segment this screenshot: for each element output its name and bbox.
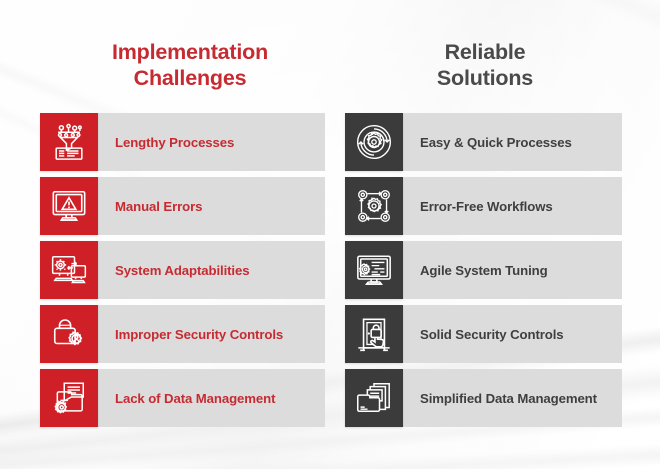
solution-bar: Easy & Quick Processes: [374, 113, 622, 171]
solution-row-error-free-workflows[interactable]: Error-Free Workflows: [345, 177, 622, 235]
folder-documents-stack-icon: [345, 369, 403, 427]
monitor-gear-code-icon: [345, 241, 403, 299]
padlock-gear-user-icon: [40, 305, 98, 363]
challenge-row-system-adaptabilities[interactable]: System Adaptabilities: [40, 241, 325, 299]
challenge-label: Manual Errors: [115, 199, 202, 214]
challenge-label: System Adaptabilities: [115, 263, 249, 278]
solution-row-agile-system-tuning[interactable]: Agile System Tuning: [345, 241, 622, 299]
right-column-heading: Reliable Solutions: [345, 39, 625, 91]
challenge-label: Lack of Data Management: [115, 391, 275, 406]
challenge-bar: Improper Security Controls: [69, 305, 325, 363]
left-column-heading-line2: Challenges: [40, 65, 340, 91]
challenge-bar: Manual Errors: [69, 177, 325, 235]
right-column-heading-line2: Solutions: [345, 65, 625, 91]
solution-bar: Agile System Tuning: [374, 241, 622, 299]
challenge-row-lengthy-processes[interactable]: Lengthy Processes: [40, 113, 325, 171]
challenge-bar: Lengthy Processes: [69, 113, 325, 171]
gear-workflow-nodes-icon: [345, 177, 403, 235]
left-column-heading: Implementation Challenges: [40, 39, 340, 91]
solution-label: Simplified Data Management: [420, 391, 597, 406]
gear-circular-arrows-icon: [345, 113, 403, 171]
funnel-gears-document-icon: [40, 113, 98, 171]
solution-label: Easy & Quick Processes: [420, 135, 572, 150]
challenge-label: Lengthy Processes: [115, 135, 234, 150]
monitor-gear-sync-icon: [40, 241, 98, 299]
left-column-heading-line1: Implementation: [40, 39, 340, 65]
solution-bar: Solid Security Controls: [374, 305, 622, 363]
challenge-row-lack-of-data-management[interactable]: Lack of Data Management: [40, 369, 325, 427]
challenge-bar: Lack of Data Management: [69, 369, 325, 427]
challenge-label: Improper Security Controls: [115, 327, 283, 342]
solution-row-solid-security-controls[interactable]: Solid Security Controls: [345, 305, 622, 363]
solution-label: Solid Security Controls: [420, 327, 564, 342]
solution-label: Error-Free Workflows: [420, 199, 553, 214]
monitor-warning-icon: [40, 177, 98, 235]
solution-row-simplified-data-management[interactable]: Simplified Data Management: [345, 369, 622, 427]
solution-row-easy-quick-processes[interactable]: Easy & Quick Processes: [345, 113, 622, 171]
solution-bar: Error-Free Workflows: [374, 177, 622, 235]
folder-document-gear-icon: [40, 369, 98, 427]
challenge-row-improper-security-controls[interactable]: Improper Security Controls: [40, 305, 325, 363]
right-column-heading-line1: Reliable: [345, 39, 625, 65]
solution-bar: Simplified Data Management: [374, 369, 622, 427]
solution-label: Agile System Tuning: [420, 263, 548, 278]
challenge-bar: System Adaptabilities: [69, 241, 325, 299]
door-padlock-hand-icon: [345, 305, 403, 363]
challenge-row-manual-errors[interactable]: Manual Errors: [40, 177, 325, 235]
